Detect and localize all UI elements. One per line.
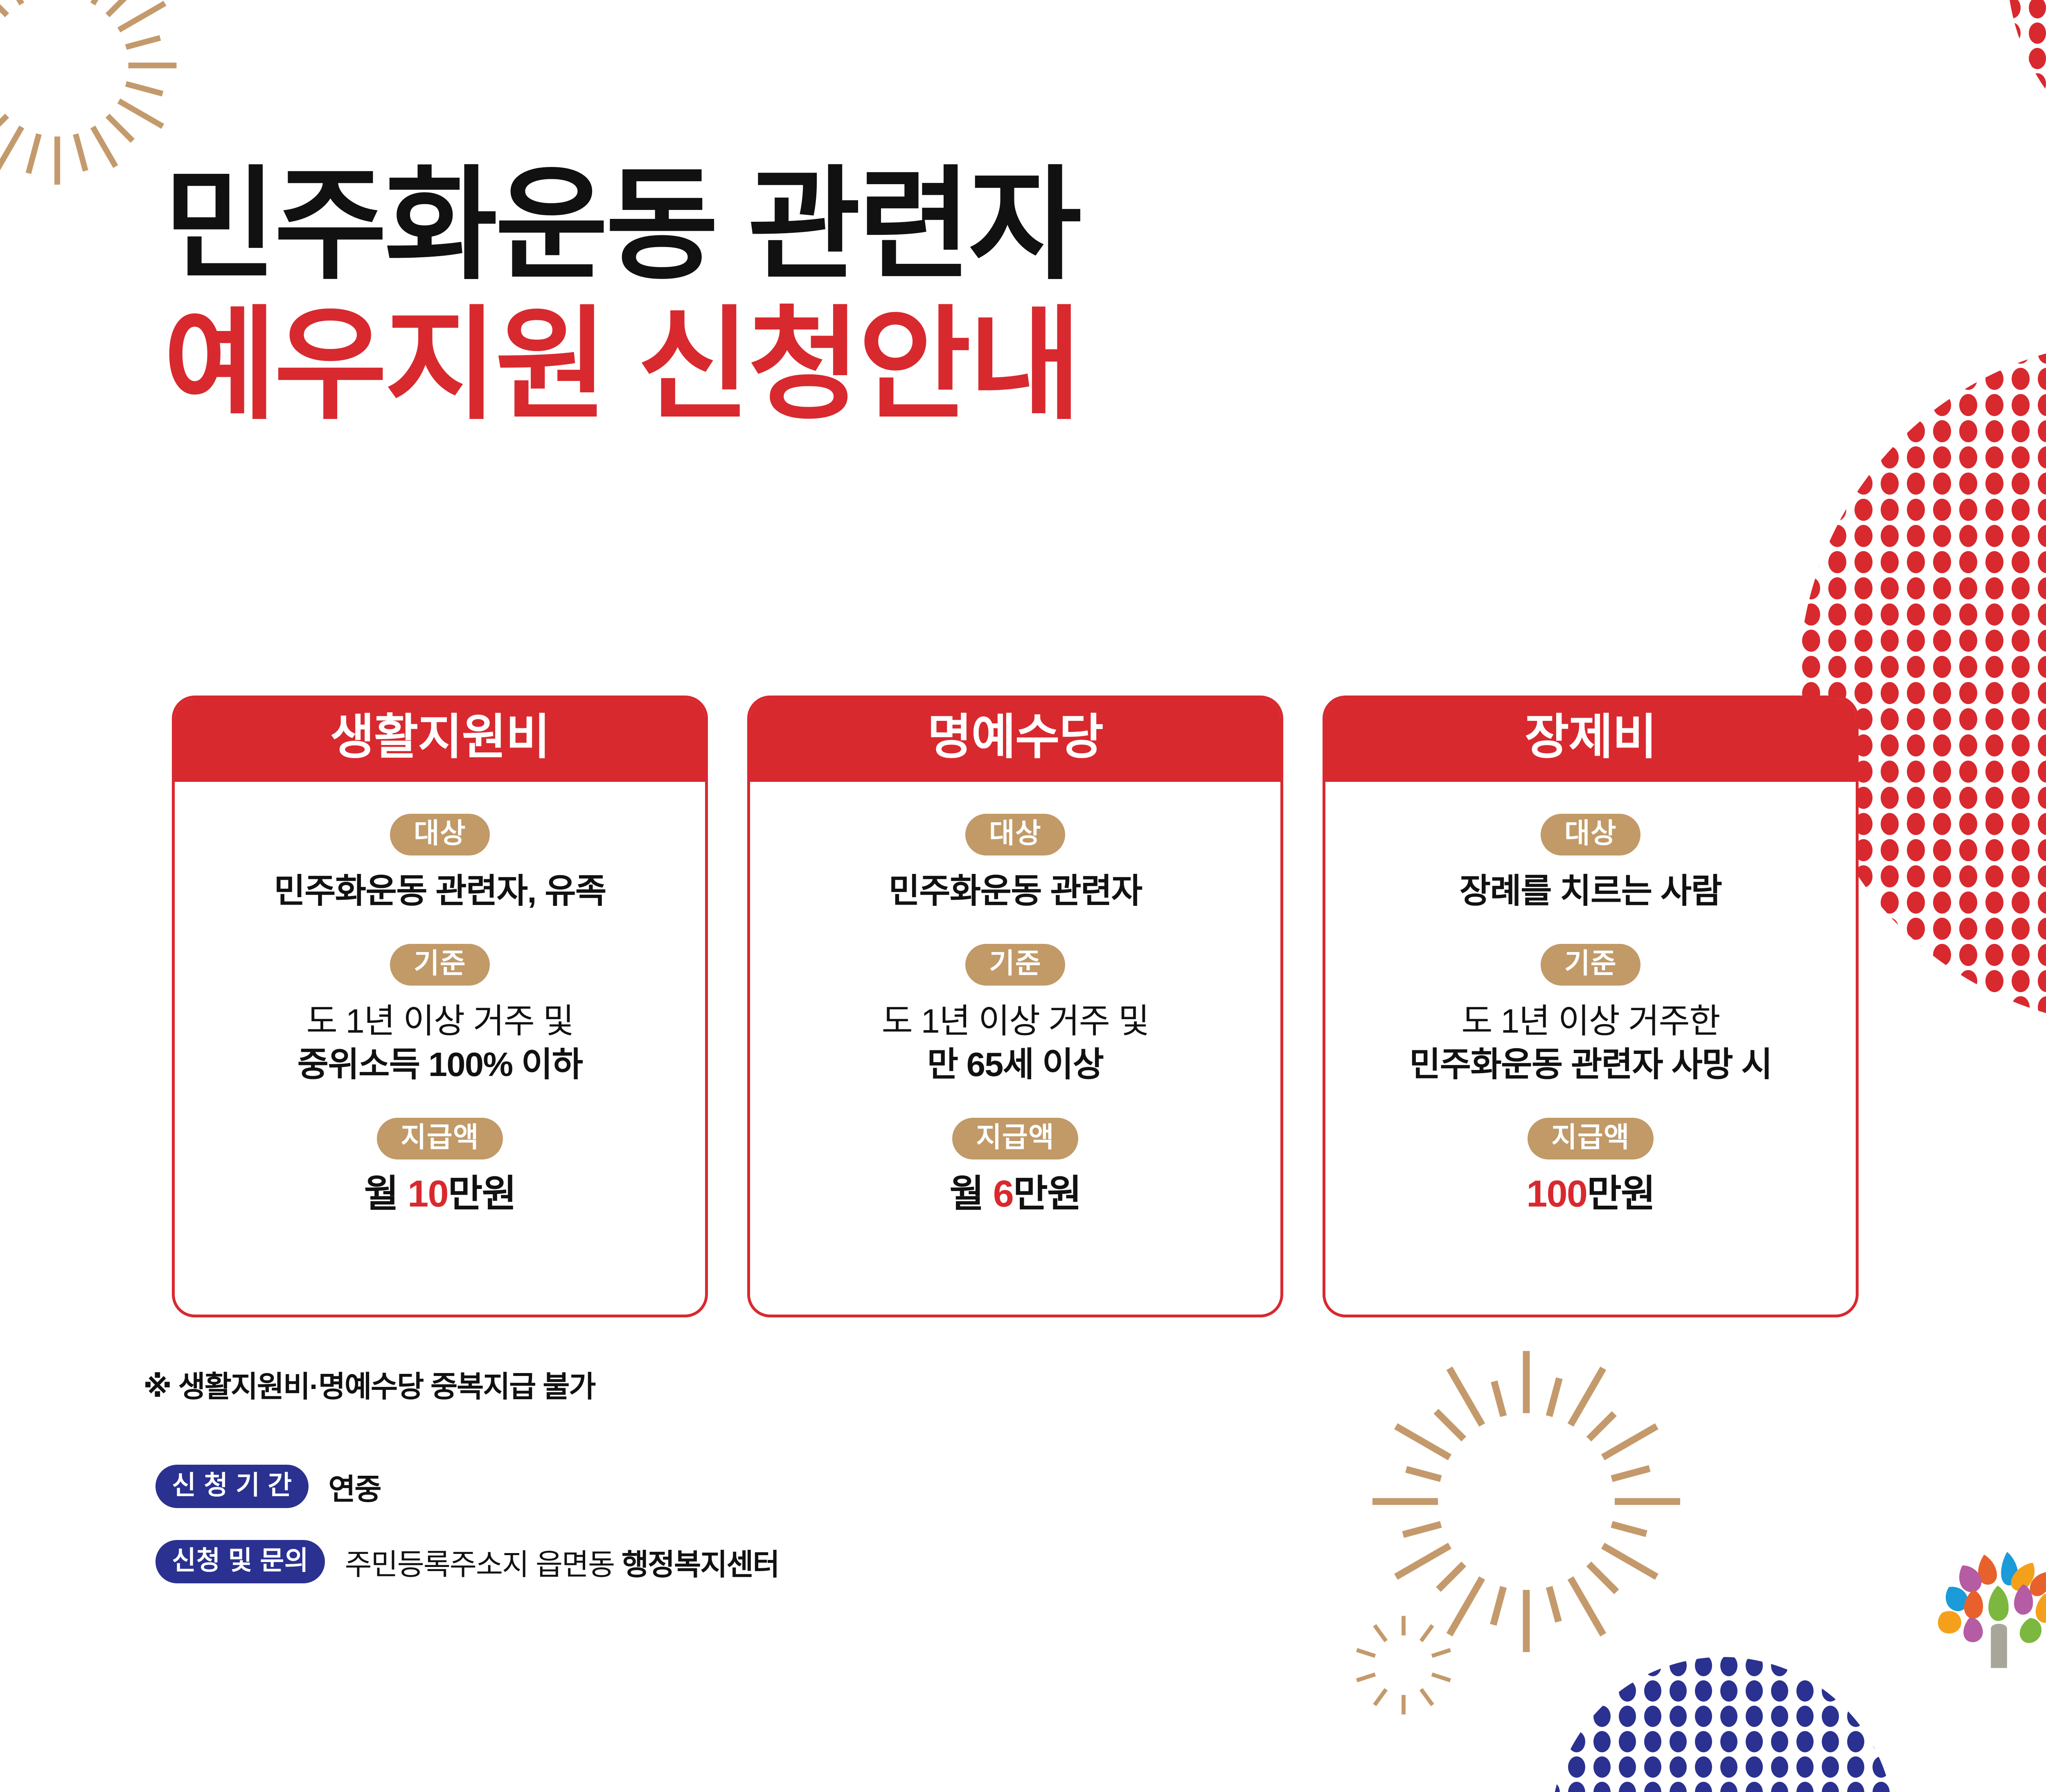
card-field-criteria: 기준 도 1년 이상 거주 및 만 65세 이상 — [881, 944, 1149, 1086]
card-title: 명예수당 — [750, 698, 1280, 782]
amount-suffix: 만원 — [1013, 1173, 1081, 1215]
info-value-regular: 주민등록주소지 읍면동 — [345, 1549, 622, 1581]
field-label-badge: 기준 — [1541, 944, 1640, 986]
info-label-badge: 신청 및 문의 — [155, 1540, 325, 1583]
amount-prefix: 월 — [949, 1173, 993, 1215]
card-field-target: 대상 장례를 치르는 사람 — [1460, 814, 1722, 913]
title-line-secondary: 예우지원 신청안내 — [164, 304, 1882, 426]
info-value-bold: 행정복지센터 — [622, 1549, 779, 1581]
field-value-line: 도 1년 이상 거주한 — [1409, 1000, 1772, 1043]
field-value-line: 장례를 치르는 사람 — [1460, 869, 1722, 913]
benefit-card: 명예수당 대상 민주화운동 관련자 기준 도 1년 이상 거주 및 만 65세 … — [747, 696, 1283, 1317]
starburst-small-icon — [1346, 1608, 1461, 1722]
field-value-line: 만 65세 이상 — [881, 1043, 1149, 1086]
duplicate-payment-note: ※ 생활지원비·명예수당 중복지급 불가 — [143, 1362, 595, 1405]
field-value-line: 도 1년 이상 거주 및 — [297, 1000, 583, 1043]
amount-value: 100만원 — [1526, 1173, 1655, 1215]
dot-cluster-bottom-center — [1539, 1653, 1907, 1792]
card-title: 생활지원비 — [175, 698, 705, 782]
card-field-amount: 지급액 월 6만원 — [949, 1118, 1081, 1215]
amount-suffix: 만원 — [1587, 1173, 1655, 1215]
card-body: 대상 민주화운동 관련자, 유족 기준 도 1년 이상 거주 및 중위소득 10… — [175, 782, 705, 1315]
card-field-criteria: 기준 도 1년 이상 거주 및 중위소득 100% 이하 — [297, 944, 583, 1086]
field-value: 장례를 치르는 사람 — [1460, 869, 1722, 913]
field-label-badge: 기준 — [965, 944, 1065, 986]
application-info: 신청기간 연중 신청 및 문의 주민등록주소지 읍면동 행정복지센터 — [155, 1465, 779, 1583]
field-value: 민주화운동 관련자 — [889, 869, 1142, 913]
info-label-badge: 신청기간 — [155, 1465, 309, 1508]
card-field-criteria: 기준 도 1년 이상 거주한 민주화운동 관련자 사망 시 — [1409, 944, 1772, 1086]
benefit-card-list: 생활지원비 대상 민주화운동 관련자, 유족 기준 도 1년 이상 거주 및 중… — [172, 696, 1859, 1317]
card-field-amount: 지급액 100만원 — [1526, 1118, 1655, 1215]
field-label-badge: 대상 — [390, 814, 490, 855]
field-label-badge: 지급액 — [952, 1118, 1078, 1159]
info-value: 연중 — [328, 1465, 381, 1508]
card-body: 대상 장례를 치르는 사람 기준 도 1년 이상 거주한 민주화운동 관련자 사… — [1325, 782, 1856, 1315]
card-field-amount: 지급액 월 10만원 — [364, 1118, 516, 1215]
field-value-line: 중위소득 100% 이하 — [297, 1043, 583, 1086]
field-value-line: 민주화운동 관련자, 유족 — [274, 869, 606, 913]
page-title: 민주화운동 관련자 예우지원 신청안내 — [164, 164, 1882, 426]
card-field-target: 대상 민주화운동 관련자 — [889, 814, 1142, 913]
organization-logo: 충청남도 — [1931, 1542, 2046, 1677]
benefit-card: 장제비 대상 장례를 치르는 사람 기준 도 1년 이상 거주한 민주화운동 관… — [1323, 696, 1859, 1317]
benefit-card: 생활지원비 대상 민주화운동 관련자, 유족 기준 도 1년 이상 거주 및 중… — [172, 696, 708, 1317]
field-label-badge: 기준 — [390, 944, 490, 986]
title-line-primary: 민주화운동 관련자 — [164, 164, 1882, 286]
info-value: 주민등록주소지 읍면동 행정복지센터 — [345, 1540, 779, 1583]
field-label-badge: 대상 — [1541, 814, 1640, 855]
field-label-badge: 대상 — [965, 814, 1065, 855]
field-value-line: 도 1년 이상 거주 및 — [881, 1000, 1149, 1043]
dot-cluster-top-right — [1923, 0, 2046, 205]
field-value-line: 민주화운동 관련자 사망 시 — [1409, 1043, 1772, 1086]
info-value-bold: 연중 — [328, 1473, 381, 1506]
info-row-contact: 신청 및 문의 주민등록주소지 읍면동 행정복지센터 — [155, 1540, 779, 1583]
field-value: 도 1년 이상 거주 및 중위소득 100% 이하 — [297, 1000, 583, 1086]
field-value-line: 민주화운동 관련자 — [889, 869, 1142, 913]
amount-value: 월 6만원 — [949, 1173, 1081, 1215]
field-value: 민주화운동 관련자, 유족 — [274, 869, 606, 913]
starburst-top-left-icon — [0, 0, 184, 192]
field-value: 도 1년 이상 거주한 민주화운동 관련자 사망 시 — [1409, 1000, 1772, 1086]
amount-prefix: 월 — [364, 1173, 408, 1215]
field-value: 도 1년 이상 거주 및 만 65세 이상 — [881, 1000, 1149, 1086]
card-field-target: 대상 민주화운동 관련자, 유족 — [274, 814, 606, 913]
card-body: 대상 민주화운동 관련자 기준 도 1년 이상 거주 및 만 65세 이상 지급… — [750, 782, 1280, 1315]
info-row-period: 신청기간 연중 — [155, 1465, 779, 1508]
poster-canvas: 민주화운동 관련자 예우지원 신청안내 생활지원비 대상 민주화운동 관련자, … — [0, 0, 2046, 1788]
amount-number: 100 — [1526, 1173, 1587, 1215]
amount-number: 6 — [993, 1173, 1013, 1215]
starburst-mid-bottom-icon — [1363, 1338, 1690, 1665]
amount-value: 월 10만원 — [364, 1173, 516, 1215]
chungcheongnamdo-tree-logo-icon — [1931, 1542, 2046, 1677]
amount-suffix: 만원 — [448, 1173, 516, 1215]
field-label-badge: 지급액 — [1528, 1118, 1654, 1159]
amount-number: 10 — [408, 1173, 448, 1215]
card-title: 장제비 — [1325, 698, 1856, 782]
field-label-badge: 지급액 — [377, 1118, 503, 1159]
